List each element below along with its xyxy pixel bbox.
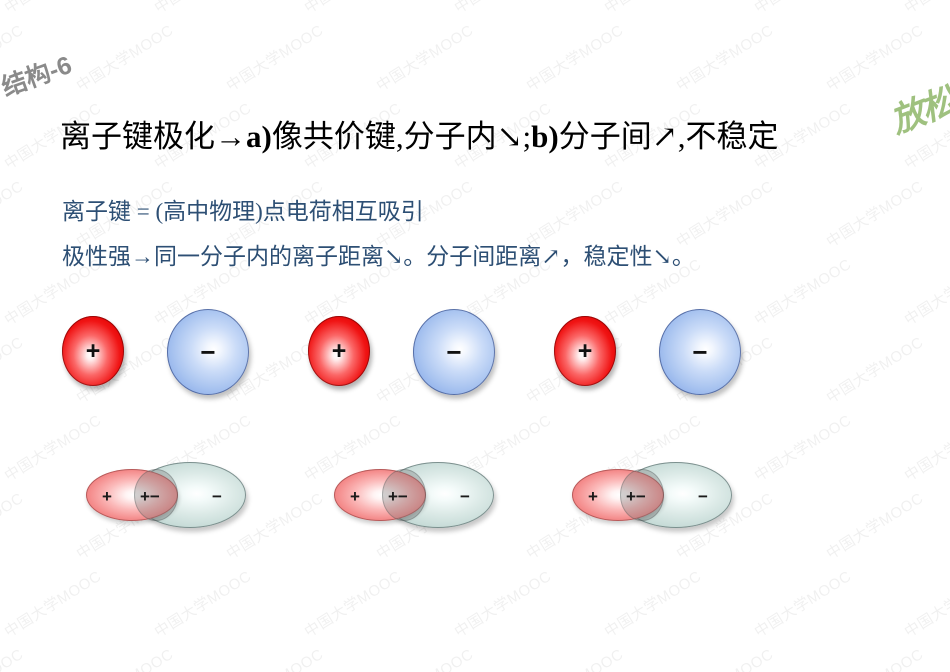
- watermark-text: 中国大学MOOC: [750, 565, 855, 641]
- charge-sign: −: [200, 339, 215, 365]
- polarized-molecule: ++−−: [86, 462, 246, 532]
- watermark-text: 中国大学MOOC: [672, 331, 777, 407]
- slide-title: 离子键极化→a)像共价键,分子内↘;b)分子间↗,不稳定: [60, 117, 920, 157]
- watermark-text: 中国大学MOOC: [372, 331, 477, 407]
- watermark-text: 中国大学MOOC: [522, 487, 627, 563]
- molecule-sign-positive: +: [102, 488, 112, 505]
- watermark-text: 中国大学MOOC: [822, 175, 927, 251]
- watermark-text: 中国大学MOOC: [450, 0, 555, 18]
- watermark-text: 中国大学MOOC: [0, 175, 27, 251]
- molecule-sign-overlap: +−: [140, 488, 160, 505]
- watermark-text: 中国大学MOOC: [0, 0, 105, 18]
- title-label-b: b): [531, 119, 559, 154]
- watermark-text: 中国大学MOOC: [0, 565, 105, 641]
- watermark-text: 中国大学MOOC: [300, 565, 405, 641]
- watermark-text: 中国大学MOOC: [750, 409, 855, 485]
- watermark-text: 中国大学MOOC: [822, 643, 927, 672]
- watermark-text: 中国大学MOOC: [222, 487, 327, 563]
- molecule-overlap-region: [382, 469, 426, 521]
- watermark-text: 中国大学MOOC: [150, 0, 255, 18]
- molecule-cation-lobe: [86, 469, 178, 521]
- molecule-cation-lobe: [572, 469, 664, 521]
- watermark-text: 中国大学MOOC: [600, 409, 705, 485]
- body-line-definition: 离子键 = (高中物理)点电荷相互吸引: [62, 196, 424, 228]
- watermark-layer: 中国大学MOOC中国大学MOOC中国大学MOOC中国大学MOOC中国大学MOOC…: [0, 0, 950, 672]
- molecule-sign-positive: +: [588, 488, 598, 505]
- charge-sign: +: [578, 339, 593, 364]
- watermark-text: 中国大学MOOC: [900, 409, 950, 485]
- diagram-layer: +−+−+−++−−++−−++−−: [0, 0, 950, 672]
- watermark-text: 中国大学MOOC: [522, 19, 627, 95]
- molecule-sign-overlap: +−: [626, 488, 646, 505]
- ion-sphere-anion: −: [167, 309, 249, 395]
- polarized-molecule: ++−−: [334, 462, 494, 532]
- watermark-text: 中国大学MOOC: [450, 565, 555, 641]
- molecule-sign-overlap: +−: [388, 488, 408, 505]
- molecule-overlap-region: [620, 469, 664, 521]
- body-line-polarity: 极性强→同一分子内的离子距离↘。分子间距离↗，稳定性↘。: [62, 241, 695, 273]
- title-segment-1: 离子键极化→: [60, 119, 246, 154]
- watermark-text: 中国大学MOOC: [750, 253, 855, 329]
- watermark-text: 中国大学MOOC: [672, 487, 777, 563]
- molecule-sign-negative: −: [460, 488, 470, 505]
- title-segment-3: 像共价键,分子内↘;: [272, 119, 531, 154]
- molecule-overlap-region: [134, 469, 178, 521]
- watermark-text: 中国大学MOOC: [300, 409, 405, 485]
- watermark-text: 中国大学MOOC: [822, 487, 927, 563]
- watermark-text: 中国大学MOOC: [750, 0, 855, 18]
- charge-sign: +: [332, 339, 347, 364]
- molecule-anion-lobe: [134, 462, 246, 528]
- watermark-text: 中国大学MOOC: [222, 643, 327, 672]
- slide-canvas: 中国大学MOOC中国大学MOOC中国大学MOOC中国大学MOOC中国大学MOOC…: [0, 0, 950, 672]
- watermark-text: 中国大学MOOC: [72, 487, 177, 563]
- molecule-sign-negative: −: [212, 488, 222, 505]
- watermark-text: 中国大学MOOC: [300, 0, 405, 18]
- charge-sign: −: [446, 339, 461, 365]
- watermark-text: 中国大学MOOC: [822, 19, 927, 95]
- watermark-text: 中国大学MOOC: [372, 19, 477, 95]
- charge-sign: −: [692, 339, 707, 365]
- watermark-text: 中国大学MOOC: [72, 643, 177, 672]
- watermark-text: 中国大学MOOC: [600, 0, 705, 18]
- watermark-text: 中国大学MOOC: [0, 643, 27, 672]
- ion-sphere-cation: +: [308, 316, 370, 386]
- ion-sphere-cation: +: [62, 316, 124, 386]
- molecule-sign-positive: +: [350, 488, 360, 505]
- polarized-molecule: ++−−: [572, 462, 732, 532]
- watermark-text: 中国大学MOOC: [900, 565, 950, 641]
- watermark-text: 中国大学MOOC: [150, 409, 255, 485]
- watermark-text: 中国大学MOOC: [0, 409, 105, 485]
- ion-sphere-anion: −: [659, 309, 741, 395]
- watermark-text: 中国大学MOOC: [450, 409, 555, 485]
- watermark-text: 中国大学MOOC: [222, 331, 327, 407]
- charge-sign: +: [86, 339, 101, 364]
- title-segment-5: 分子间↗,不稳定: [559, 119, 779, 154]
- watermark-text: 中国大学MOOC: [822, 331, 927, 407]
- watermark-text: 中国大学MOOC: [150, 565, 255, 641]
- watermark-text: 中国大学MOOC: [372, 487, 477, 563]
- watermark-text: 中国大学MOOC: [522, 331, 627, 407]
- watermark-text: 中国大学MOOC: [672, 643, 777, 672]
- watermark-text: 中国大学MOOC: [222, 19, 327, 95]
- molecule-cation-lobe: [334, 469, 426, 521]
- watermark-text: 中国大学MOOC: [522, 643, 627, 672]
- watermark-text: 中国大学MOOC: [72, 331, 177, 407]
- watermark-text: 中国大学MOOC: [600, 565, 705, 641]
- watermark-text: 中国大学MOOC: [0, 331, 27, 407]
- ion-sphere-cation: +: [554, 316, 616, 386]
- watermark-text: 中国大学MOOC: [0, 487, 27, 563]
- watermark-text: 中国大学MOOC: [900, 253, 950, 329]
- ion-sphere-anion: −: [413, 309, 495, 395]
- molecule-sign-negative: −: [698, 488, 708, 505]
- page-tag: 结构-6: [0, 45, 76, 104]
- watermark-text: 中国大学MOOC: [672, 19, 777, 95]
- watermark-text: 中国大学MOOC: [900, 0, 950, 18]
- title-label-a: a): [246, 119, 272, 154]
- molecule-anion-lobe: [382, 462, 494, 528]
- molecule-anion-lobe: [620, 462, 732, 528]
- watermark-text: 中国大学MOOC: [372, 643, 477, 672]
- watermark-text: 中国大学MOOC: [72, 19, 177, 95]
